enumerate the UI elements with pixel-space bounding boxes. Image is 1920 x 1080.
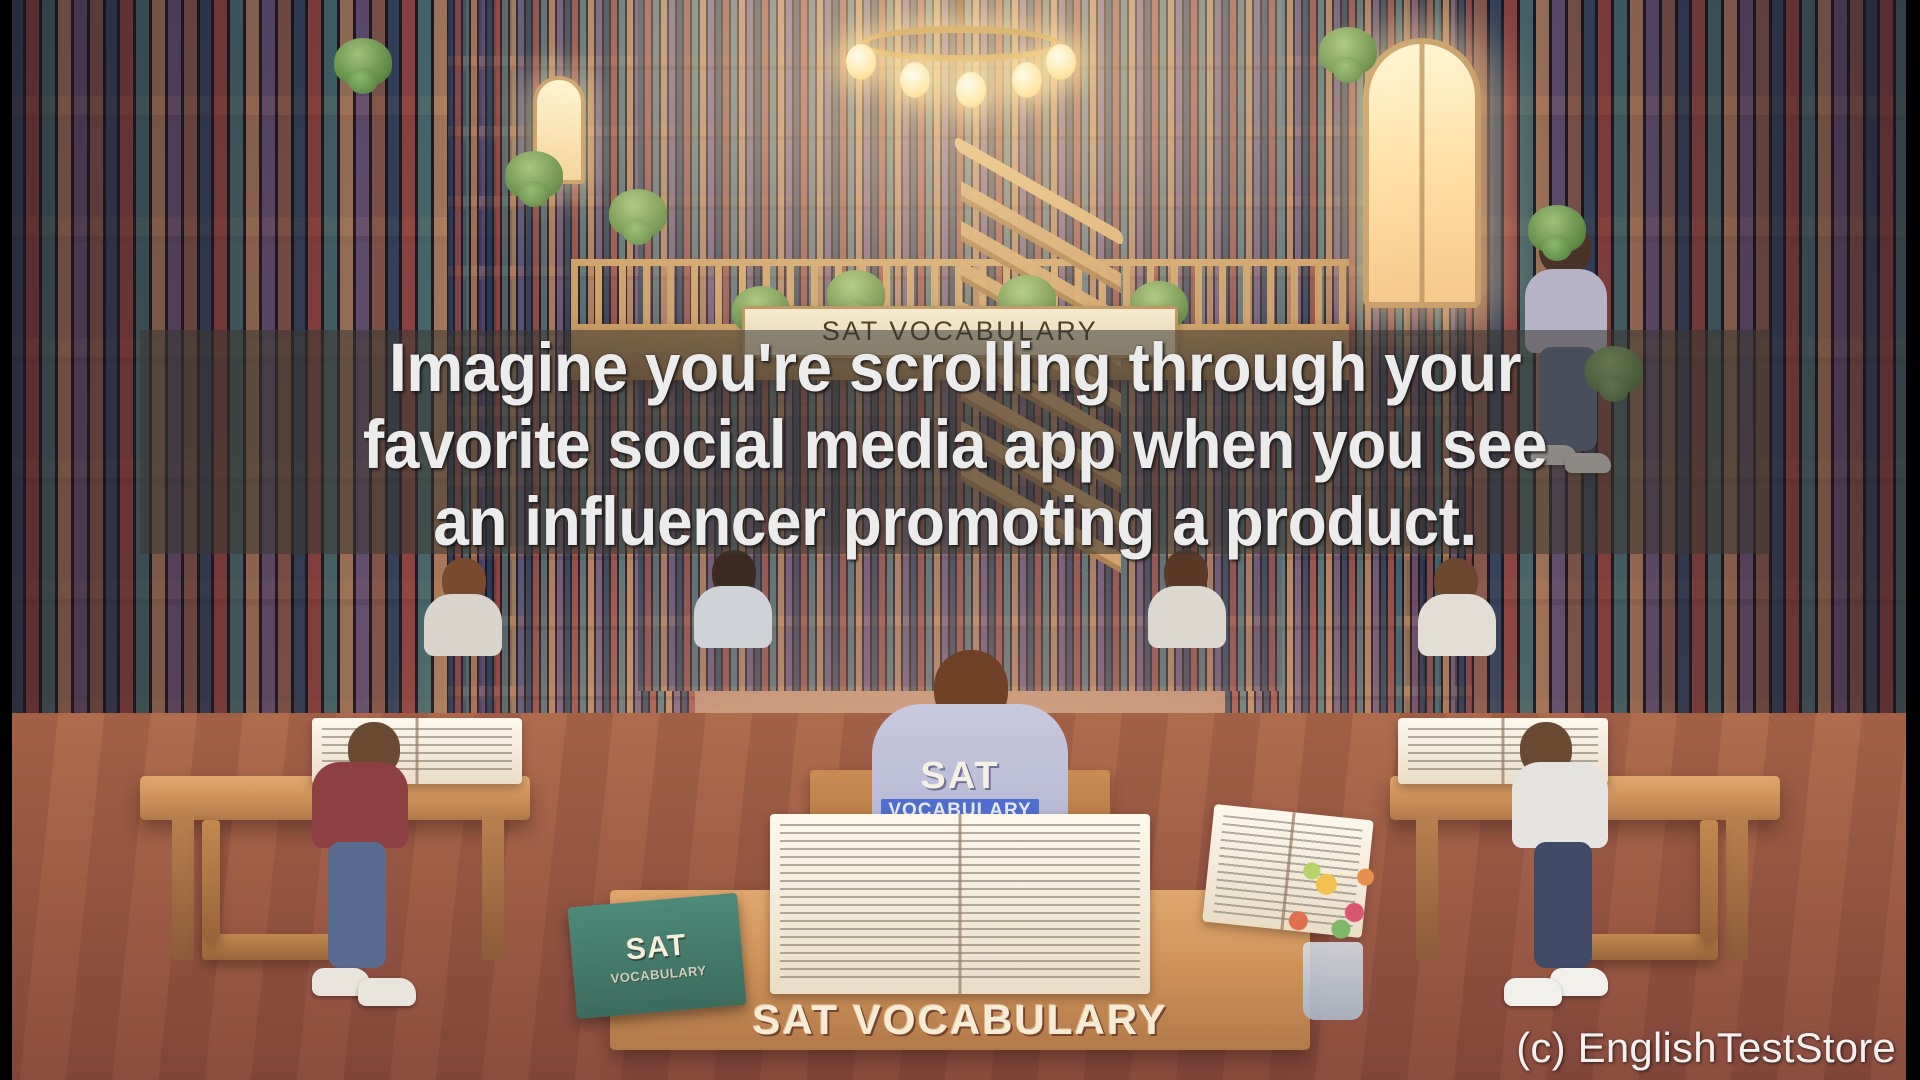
- table-leg: [172, 815, 194, 960]
- chandelier-bulb: [1046, 44, 1076, 80]
- caption-line-2: favorite social media app when you see: [197, 406, 1713, 483]
- letterbox-bar-right: [1906, 0, 1920, 1080]
- book-cover-label-vocabulary: VOCABULARY: [610, 962, 707, 985]
- hanging-plant: [1319, 27, 1377, 75]
- flower-vase: [1303, 942, 1363, 1020]
- person-torso: [312, 762, 408, 848]
- hoodie-sat-vocabulary-graphic: SAT VOCABULARY: [881, 757, 1039, 822]
- table-leg: [1726, 815, 1748, 960]
- person-shoe: [358, 978, 416, 1006]
- hanging-plant: [334, 38, 392, 86]
- chandelier: [860, 0, 1060, 62]
- chandelier-ring: [860, 26, 1060, 62]
- open-dictionary-center: [770, 814, 1150, 994]
- person-shoe: [1504, 978, 1562, 1006]
- watermark-englishteststore: (c) EnglishTestStore: [1516, 1024, 1896, 1072]
- sat-vocabulary-book: SAT VOCABULARY: [567, 893, 746, 1019]
- screenshot-root: SAT VOCABULARY: [0, 0, 1920, 1080]
- table-leg: [1416, 815, 1438, 960]
- person-legs: [328, 842, 386, 968]
- chandelier-bulb: [956, 72, 986, 108]
- chandelier-rod: [957, 0, 963, 26]
- book-cover-label-sat: SAT: [625, 928, 689, 967]
- caption-overlay-band: Imagine you're scrolling through your fa…: [140, 330, 1770, 554]
- person-torso: [424, 594, 502, 656]
- table-leg: [482, 815, 504, 960]
- arched-window-right: [1363, 38, 1481, 308]
- person-torso: [1418, 594, 1496, 656]
- person-torso: [1148, 586, 1226, 648]
- person-legs: [1534, 842, 1592, 968]
- caption-line-3: an influencer promoting a product.: [197, 483, 1713, 560]
- chair-left-back: [202, 820, 220, 940]
- book-cover: SAT VOCABULARY: [567, 893, 746, 1019]
- table-sat-vocabulary-engraving: SAT VOCABULARY: [752, 996, 1167, 1044]
- chandelier-bulb: [846, 44, 876, 80]
- chandelier-bulb: [1012, 62, 1042, 98]
- hanging-plant: [505, 151, 563, 199]
- flower-bouquet: [1276, 848, 1388, 952]
- hanging-plant: [609, 189, 667, 237]
- person-torso: [694, 586, 772, 648]
- chandelier-bulb: [900, 62, 930, 98]
- hanging-plant: [1528, 205, 1586, 253]
- letterbox-bar-left: [0, 0, 12, 1080]
- person-torso: [1512, 762, 1608, 848]
- hoodie-label-sat: SAT: [881, 757, 1039, 795]
- chair-right-back: [1700, 820, 1718, 940]
- book-text-lines: [780, 824, 1140, 984]
- caption-line-1: Imagine you're scrolling through your: [197, 329, 1713, 406]
